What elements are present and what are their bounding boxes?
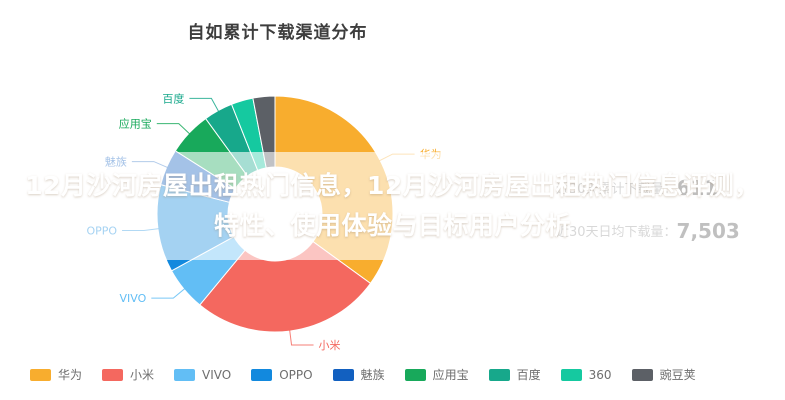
legend-label: 豌豆荚 [660, 366, 696, 383]
overlay-headline-text: 12月沙河房屋出租热门信息，12月沙河房屋出租热门信息评测，特性、使用体验与目标… [18, 166, 767, 246]
legend-swatch-icon [489, 369, 510, 381]
legend-label: 小米 [130, 366, 154, 383]
legend-swatch-icon [405, 369, 426, 381]
legend-swatch-icon [333, 369, 354, 381]
slice-label-1: 小米 [319, 339, 341, 352]
legend-swatch-icon [251, 369, 272, 381]
legend-item-6[interactable]: 百度 [489, 366, 541, 383]
legend-label: 魅族 [361, 366, 385, 383]
legend-label: 华为 [58, 366, 82, 383]
leader-line-1 [290, 329, 314, 345]
legend-swatch-icon [30, 369, 51, 381]
leader-line-2 [151, 288, 185, 298]
overlay-headline: 12月沙河房屋出租热门信息，12月沙河房屋出租热门信息评测，特性、使用体验与目标… [0, 154, 785, 258]
slice-label-2: VIVO [120, 292, 147, 305]
legend-item-8[interactable]: 豌豆荚 [632, 366, 696, 383]
screenshot-canvas: 自如累计下载渠道分布 华为小米VIVOOPPO魅族应用宝百度 近30天累计下载量… [0, 0, 785, 400]
legend-swatch-icon [102, 369, 123, 381]
legend-item-5[interactable]: 应用宝 [405, 366, 469, 383]
legend-swatch-icon [174, 369, 195, 381]
chart-title: 自如累计下载渠道分布 [0, 18, 555, 43]
chart-legend: 华为小米VIVOOPPO魅族应用宝百度360豌豆荚 [0, 366, 785, 383]
leader-line-6 [189, 98, 219, 112]
legend-label: VIVO [202, 368, 231, 382]
legend-item-7[interactable]: 360 [561, 368, 612, 382]
legend-label: OPPO [279, 368, 312, 382]
legend-item-3[interactable]: OPPO [251, 368, 312, 382]
legend-label: 百度 [517, 366, 541, 383]
legend-label: 360 [589, 368, 612, 382]
legend-item-4[interactable]: 魅族 [333, 366, 385, 383]
slice-label-5: 应用宝 [119, 117, 152, 131]
legend-item-1[interactable]: 小米 [102, 366, 154, 383]
legend-label: 应用宝 [433, 366, 469, 383]
slice-label-6: 百度 [162, 91, 184, 105]
legend-item-0[interactable]: 华为 [30, 366, 82, 383]
leader-line-5 [157, 124, 191, 135]
legend-swatch-icon [632, 369, 653, 381]
legend-swatch-icon [561, 369, 582, 381]
legend-item-2[interactable]: VIVO [174, 368, 231, 382]
